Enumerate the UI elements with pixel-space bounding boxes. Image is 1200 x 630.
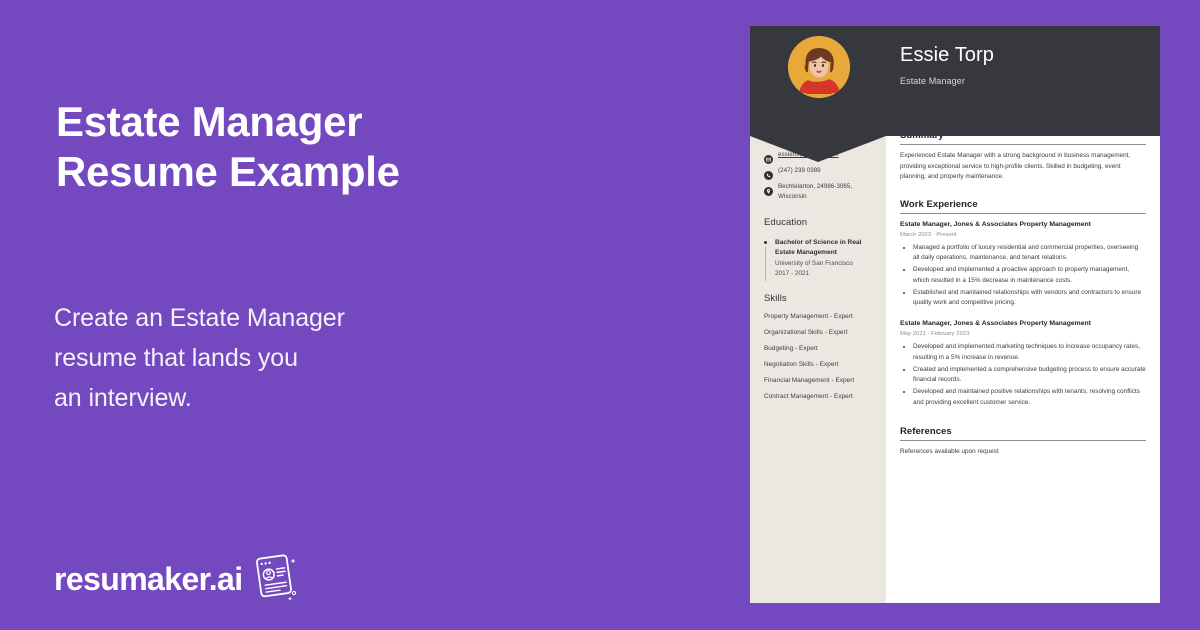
job-bullet: Developed and implemented marketing tech… <box>913 342 1146 363</box>
section-divider <box>900 144 1146 145</box>
brand-logo[interactable]: resumaker.ai <box>54 551 299 606</box>
resume-main-column: Summary Experienced Estate Manager with … <box>886 110 1160 603</box>
brand-wordmark: resumaker.ai <box>54 563 243 595</box>
education-dates: 2017 - 2021 <box>775 269 872 279</box>
skill-item: Contract Management - Expert <box>764 393 872 400</box>
header-chevron-shape <box>750 136 886 162</box>
skill-item: Organizational Skills - Expert <box>764 329 872 336</box>
job-title: Estate Manager, Jones & Associates Prope… <box>900 319 1146 329</box>
section-divider <box>900 440 1146 441</box>
contact-address-text: Bechtelarton, 24986-3065, Wisconsin <box>778 182 872 202</box>
job-bullet-list: Managed a portfolio of luxury residentia… <box>900 243 1146 309</box>
page-title: Estate Manager Resume Example <box>56 97 676 197</box>
job-title: Estate Manager, Jones & Associates Prope… <box>900 220 1146 230</box>
contact-phone-text: (247) 239 0389 <box>778 166 821 176</box>
skill-item: Negotiation Skills - Expert <box>764 361 872 368</box>
references-heading: References <box>900 426 1146 437</box>
avatar <box>788 36 850 98</box>
skill-item: Financial Management - Expert <box>764 377 872 384</box>
education-school: University of San Francisco <box>775 259 872 269</box>
phone-icon <box>764 167 773 176</box>
education-heading: Education <box>764 217 872 228</box>
references-text: References available upon request <box>900 447 1146 458</box>
education-degree: Bachelor of Science in Real Estate Manag… <box>775 238 872 258</box>
education-entry: Bachelor of Science in Real Estate Manag… <box>764 238 872 279</box>
bullet-dot-icon <box>764 241 767 244</box>
work-experience-entry: Estate Manager, Jones & Associates Prope… <box>900 220 1146 309</box>
section-divider <box>900 213 1146 214</box>
job-bullet: Developed and maintained positive relati… <box>913 387 1146 408</box>
skill-item: Property Management - Expert <box>764 313 872 320</box>
resume-name-block: Essie Torp Estate Manager <box>900 43 994 86</box>
resume-preview-card[interactable]: Contact Details essietorp@gmail.com <box>750 26 1160 603</box>
timeline-rail <box>765 247 766 281</box>
headline-line-2: Resume Example <box>56 147 676 197</box>
resume-document-icon <box>247 551 299 606</box>
work-experience-entry: Estate Manager, Jones & Associates Prope… <box>900 319 1146 408</box>
job-dates: May 2021 - February 2023 <box>900 330 1146 339</box>
headline-line-1: Estate Manager <box>56 97 676 147</box>
job-bullet: Developed and implemented a proactive ap… <box>913 265 1146 286</box>
contact-item-address[interactable]: Bechtelarton, 24986-3065, Wisconsin <box>764 182 872 202</box>
summary-text: Experienced Estate Manager with a strong… <box>900 151 1146 183</box>
subtext-line-3: an interview. <box>54 378 614 418</box>
resume-header: Essie Torp Estate Manager <box>750 26 1160 136</box>
job-bullet: Established and maintained relationships… <box>913 288 1146 309</box>
job-bullet: Created and implemented a comprehensive … <box>913 365 1146 386</box>
resume-person-name: Essie Torp <box>900 43 994 67</box>
work-experience-heading: Work Experience <box>900 199 1146 210</box>
skills-section: Skills Property Management - Expert Orga… <box>764 293 872 400</box>
job-bullet-list: Developed and implemented marketing tech… <box>900 342 1146 408</box>
contact-item-phone[interactable]: (247) 239 0389 <box>764 166 872 176</box>
skill-item: Budgeting - Expert <box>764 345 872 352</box>
promo-panel: Estate Manager Resume Example Create an … <box>0 0 750 630</box>
location-pin-icon <box>764 183 773 192</box>
promo-subtext: Create an Estate Manager resume that lan… <box>54 298 614 418</box>
resume-person-role: Estate Manager <box>900 76 994 86</box>
subtext-line-1: Create an Estate Manager <box>54 298 614 338</box>
skills-heading: Skills <box>764 293 872 304</box>
job-dates: March 2023 - Present <box>900 231 1146 240</box>
subtext-line-2: resume that lands you <box>54 338 614 378</box>
resume-sidebar: Contact Details essietorp@gmail.com <box>750 110 886 603</box>
job-bullet: Managed a portfolio of luxury residentia… <box>913 243 1146 264</box>
